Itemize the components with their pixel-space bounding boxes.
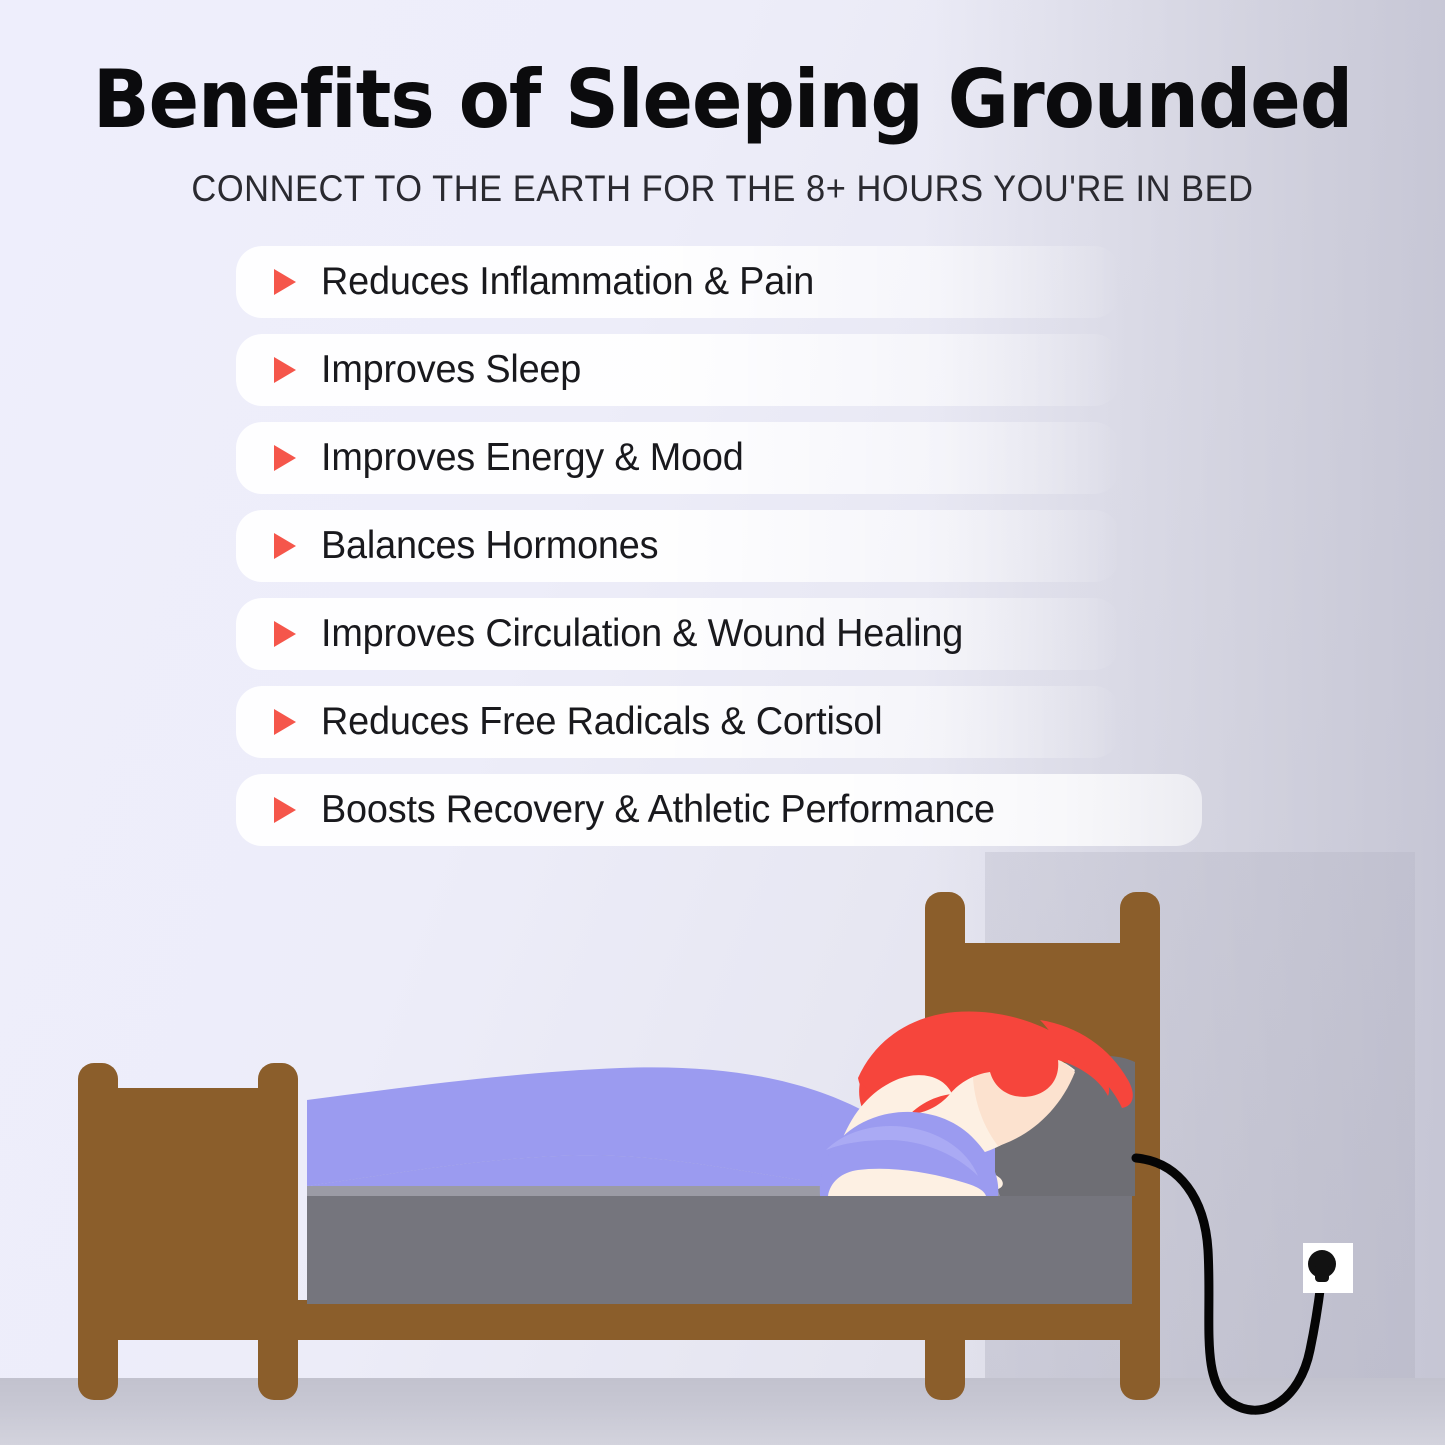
bed-footboard [78, 1063, 298, 1400]
bed-frame-rail [296, 1300, 1136, 1340]
plug-body [1315, 1264, 1329, 1282]
mattress [307, 1196, 1132, 1304]
bedroom-illustration [0, 0, 1445, 1445]
grounding-cord [1136, 1158, 1322, 1410]
infographic-poster: Benefits of Sleeping Grounded CONNECT TO… [0, 0, 1445, 1445]
